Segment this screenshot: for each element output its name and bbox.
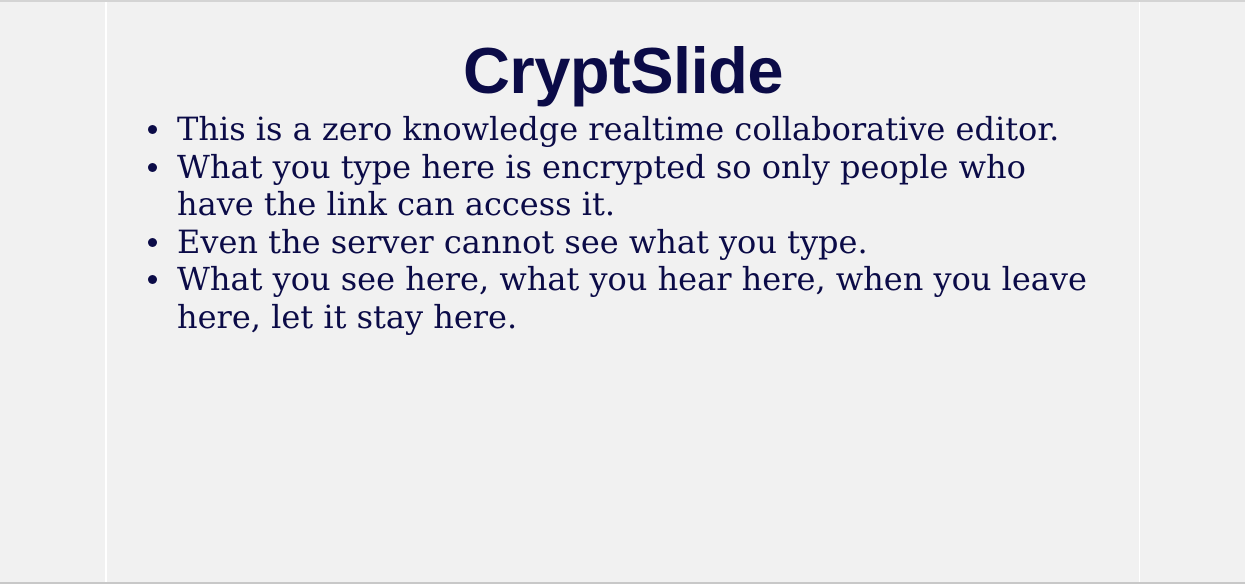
list-item-text: Even the server cannot see what you type…: [177, 224, 1089, 262]
list-item[interactable]: What you type here is encrypted so only …: [107, 149, 1139, 224]
slide-title[interactable]: CryptSlide: [107, 2, 1139, 103]
list-item-text: This is a zero knowledge realtime collab…: [177, 111, 1089, 149]
list-item-text: What you see here, what you hear here, w…: [177, 261, 1089, 336]
list-item[interactable]: Even the server cannot see what you type…: [107, 224, 1139, 262]
list-item[interactable]: This is a zero knowledge realtime collab…: [107, 111, 1139, 149]
bullet-dot-icon: [148, 238, 157, 247]
list-item[interactable]: What you see here, what you hear here, w…: [107, 261, 1139, 336]
right-gutter: [1138, 2, 1245, 582]
slide-canvas[interactable]: CryptSlide This is a zero knowledge real…: [107, 2, 1139, 582]
bullet-dot-icon: [148, 275, 157, 284]
left-gutter: [0, 2, 107, 582]
slide-editor-root: CryptSlide This is a zero knowledge real…: [0, 0, 1245, 584]
slide-bullet-list[interactable]: This is a zero knowledge realtime collab…: [107, 111, 1139, 336]
bullet-dot-icon: [148, 125, 157, 134]
list-item-text: What you type here is encrypted so only …: [177, 149, 1089, 224]
bullet-dot-icon: [148, 163, 157, 172]
